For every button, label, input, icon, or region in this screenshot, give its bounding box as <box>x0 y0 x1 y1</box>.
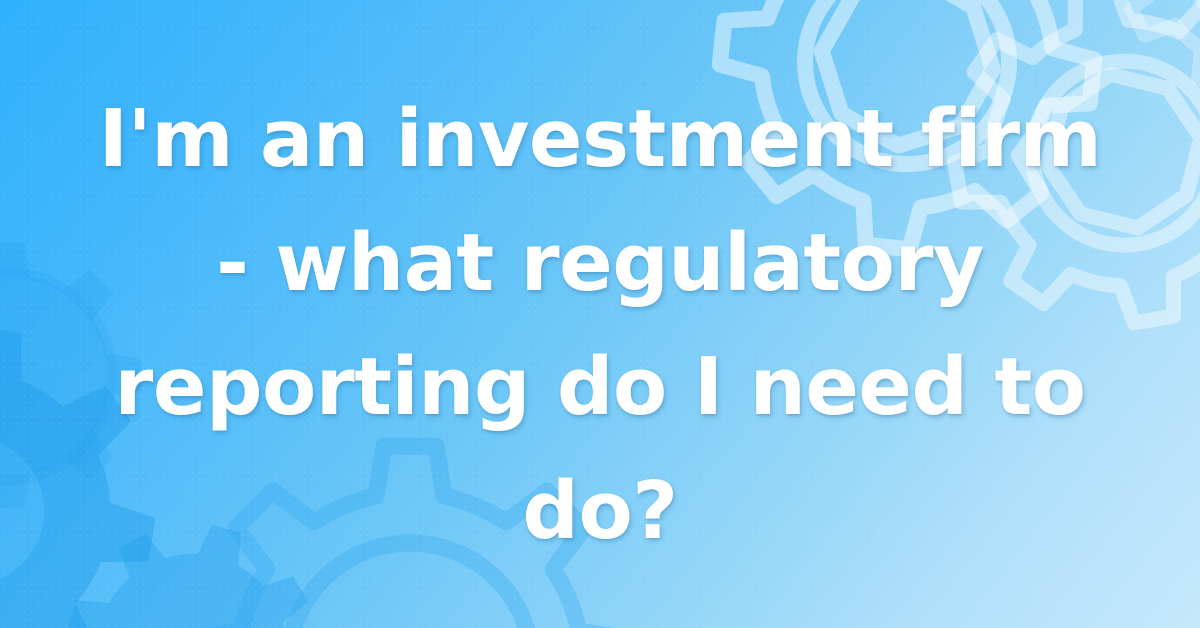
headline-container: I'm an investment firm - what regulatory… <box>0 0 1200 628</box>
page-title: I'm an investment firm - what regulatory… <box>44 77 1156 573</box>
question-banner: I'm an investment firm - what regulatory… <box>0 0 1200 628</box>
